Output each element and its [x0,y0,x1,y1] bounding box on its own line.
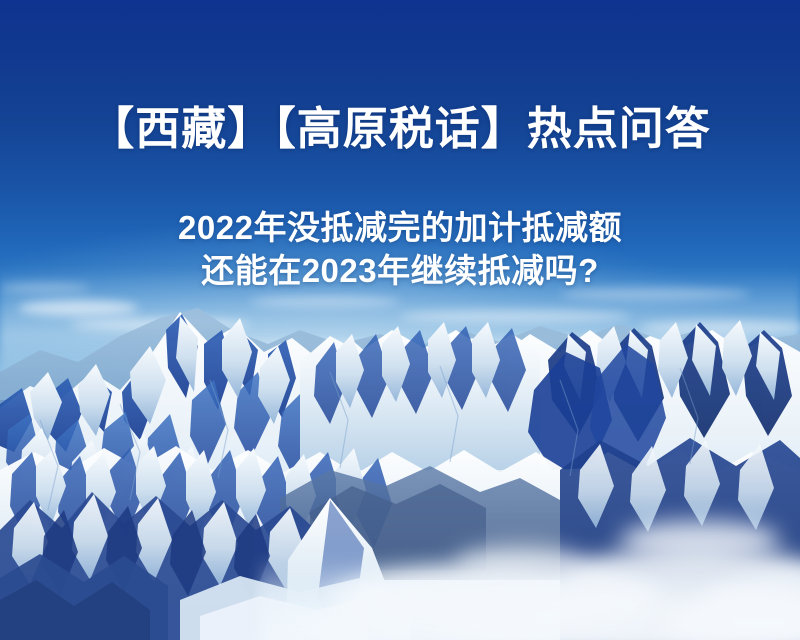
poster-subtitle: 2022年没抵减完的加计抵减额 还能在2023年继续抵减吗? [0,206,800,292]
poster-subtitle-line-1: 2022年没抵减完的加计抵减额 [178,209,622,246]
poster-canvas: 【西藏】【高原税话】热点问答 2022年没抵减完的加计抵减额 还能在2023年继… [0,0,800,640]
poster-subtitle-line-2: 还能在2023年继续抵减吗? [0,249,800,292]
poster-headline: 【西藏】【高原税话】热点问答 [0,102,800,156]
